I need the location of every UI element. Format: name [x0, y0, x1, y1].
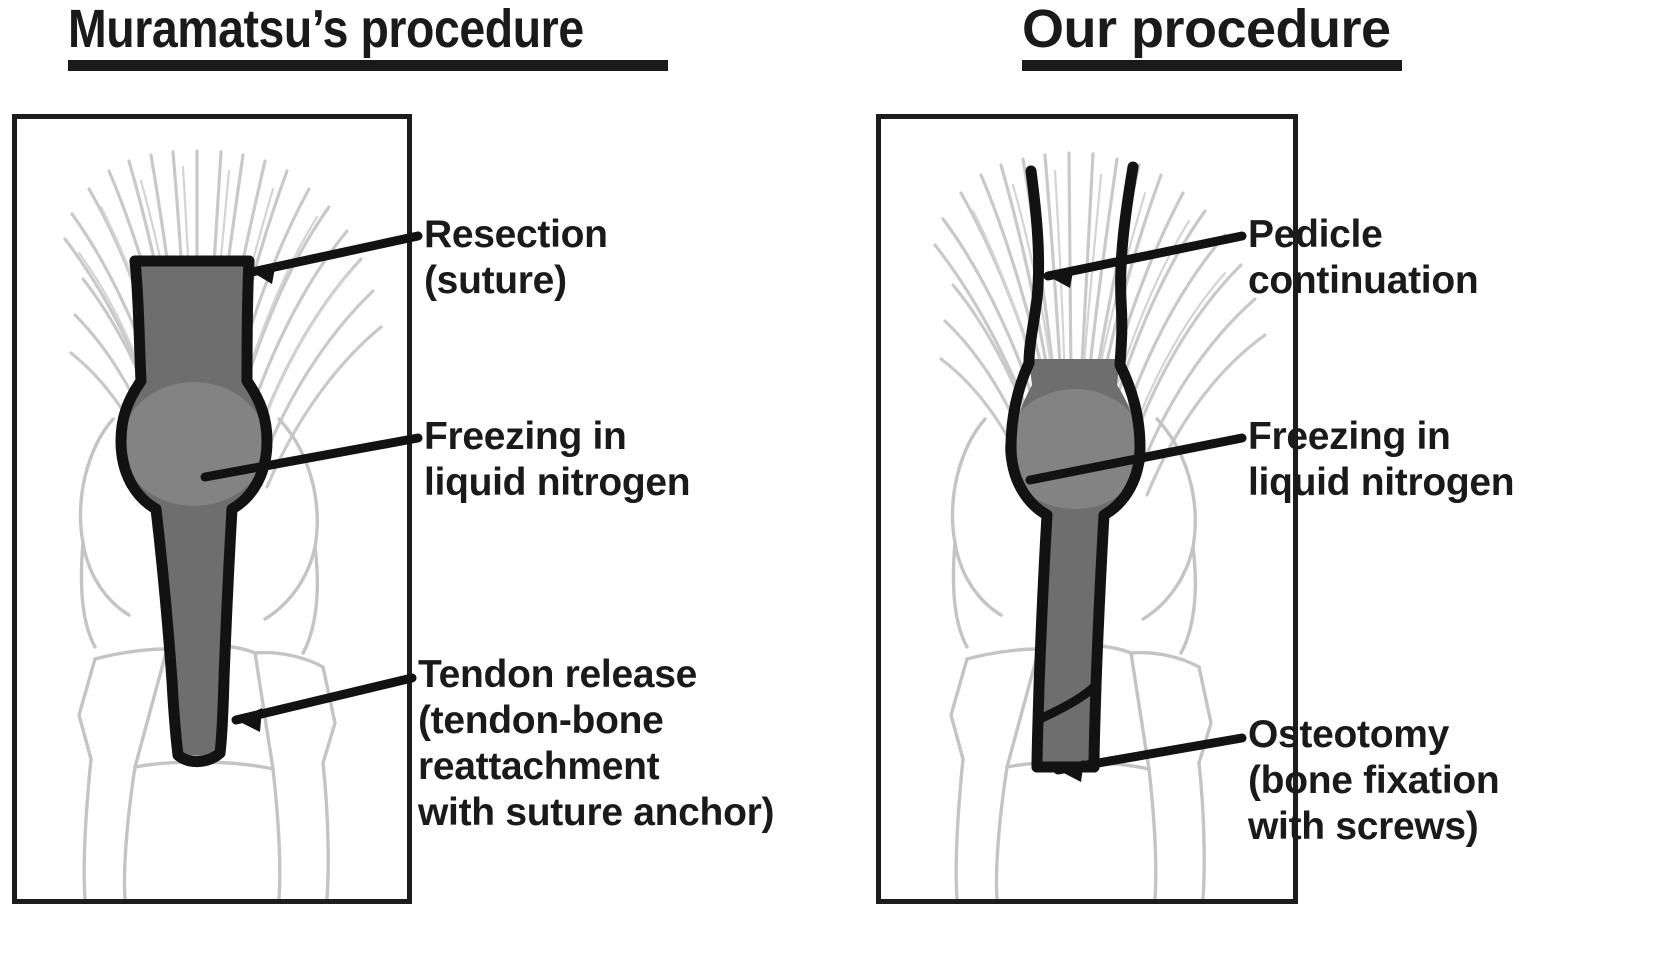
label-osteotomy: Osteotomy (bone fixation with screws)	[1248, 712, 1499, 850]
panel-title-right-text: Our procedure	[1022, 2, 1402, 56]
procedure-comparison-figure: Muramatsu’s procedure Our procedure	[0, 0, 1677, 972]
illustration-panel-right	[876, 114, 1298, 904]
panel-title-right: Our procedure	[1022, 2, 1402, 71]
illustration-panel-left	[12, 114, 412, 904]
panel-title-left: Muramatsu’s procedure	[68, 2, 668, 71]
panel-title-right-underline	[1022, 60, 1402, 71]
label-freezing-left: Freezing in liquid nitrogen	[424, 414, 690, 506]
tumor-region-left	[122, 382, 266, 506]
panel-title-left-text: Muramatsu’s procedure	[68, 2, 584, 56]
label-tendon-release: Tendon release (tendon-bone reattachment…	[418, 652, 774, 836]
label-pedicle-continuation: Pedicle continuation	[1248, 212, 1478, 304]
panel-title-left-underline	[68, 60, 668, 71]
left-anatomy-drawing	[17, 119, 407, 899]
right-anatomy-drawing	[881, 119, 1293, 899]
label-resection: Resection (suture)	[424, 212, 608, 304]
label-freezing-right: Freezing in liquid nitrogen	[1248, 414, 1514, 506]
